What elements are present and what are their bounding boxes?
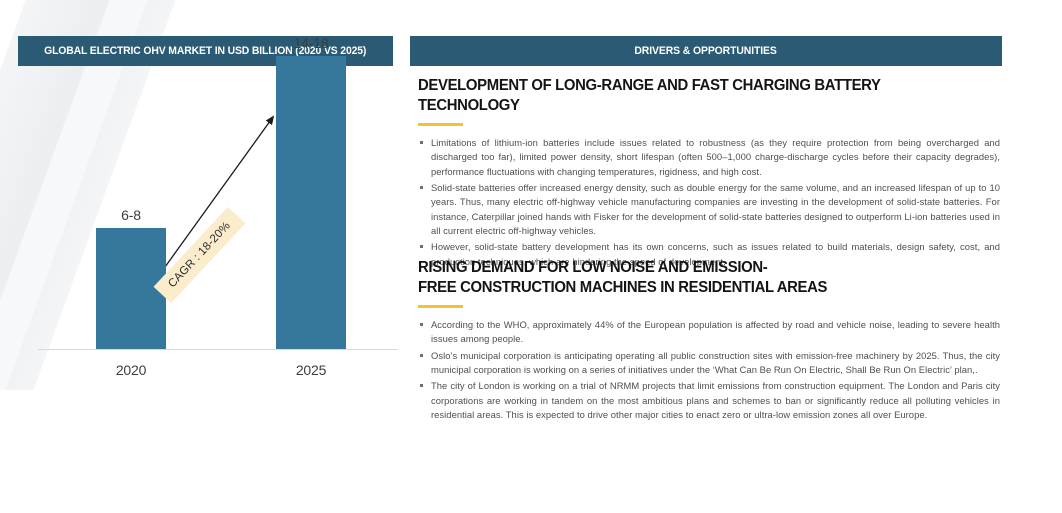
bar-chart: 6-8 14-18 CAGR : 18-20% 2020 2025	[0, 80, 410, 450]
section-2-heading: RISING DEMAND FOR LOW NOISE AND EMISSION…	[418, 258, 977, 298]
list-item: According to the WHO, approximately 44% …	[418, 318, 1000, 347]
bar-value-label-2025: 14-18	[271, 35, 351, 51]
list-item: Solid-state batteries offer increased en…	[418, 181, 1000, 238]
section-2-bullet-list: According to the WHO, approximately 44% …	[418, 318, 1000, 422]
section-2-heading-line-2: FREE CONSTRUCTION MACHINES IN RESIDENTIA…	[418, 279, 827, 296]
section-1-accent-rule	[418, 123, 463, 127]
list-item: Limitations of lithium-ion batteries inc…	[418, 136, 1000, 179]
driver-section-1: DEVELOPMENT OF LONG-RANGE AND FAST CHARG…	[418, 76, 1000, 271]
x-axis-tick-2025: 2025	[266, 362, 356, 378]
bar-value-label-2020: 6-8	[91, 207, 171, 223]
list-item: The city of London is working on a trial…	[418, 379, 1000, 422]
bar-2025	[276, 56, 346, 349]
list-item: Oslo’s municipal corporation is anticipa…	[418, 349, 1000, 378]
drivers-title-bar: DRIVERS & OPPORTUNITIES	[410, 36, 1002, 66]
drivers-panel: DRIVERS & OPPORTUNITIES DEVELOPMENT OF L…	[410, 0, 1062, 513]
section-2-heading-line-1: RISING DEMAND FOR LOW NOISE AND EMISSION…	[418, 259, 767, 276]
section-1-heading: DEVELOPMENT OF LONG-RANGE AND FAST CHARG…	[418, 76, 977, 116]
x-axis-line	[38, 349, 398, 350]
section-1-bullet-list: Limitations of lithium-ion batteries inc…	[418, 136, 1000, 269]
drivers-title: DRIVERS & OPPORTUNITIES	[635, 45, 777, 57]
x-axis-tick-2020: 2020	[86, 362, 176, 378]
driver-section-2: RISING DEMAND FOR LOW NOISE AND EMISSION…	[418, 258, 1000, 424]
section-2-accent-rule	[418, 305, 463, 309]
chart-panel: GLOBAL ELECTRIC OHV MARKET IN USD BILLIO…	[0, 0, 410, 513]
